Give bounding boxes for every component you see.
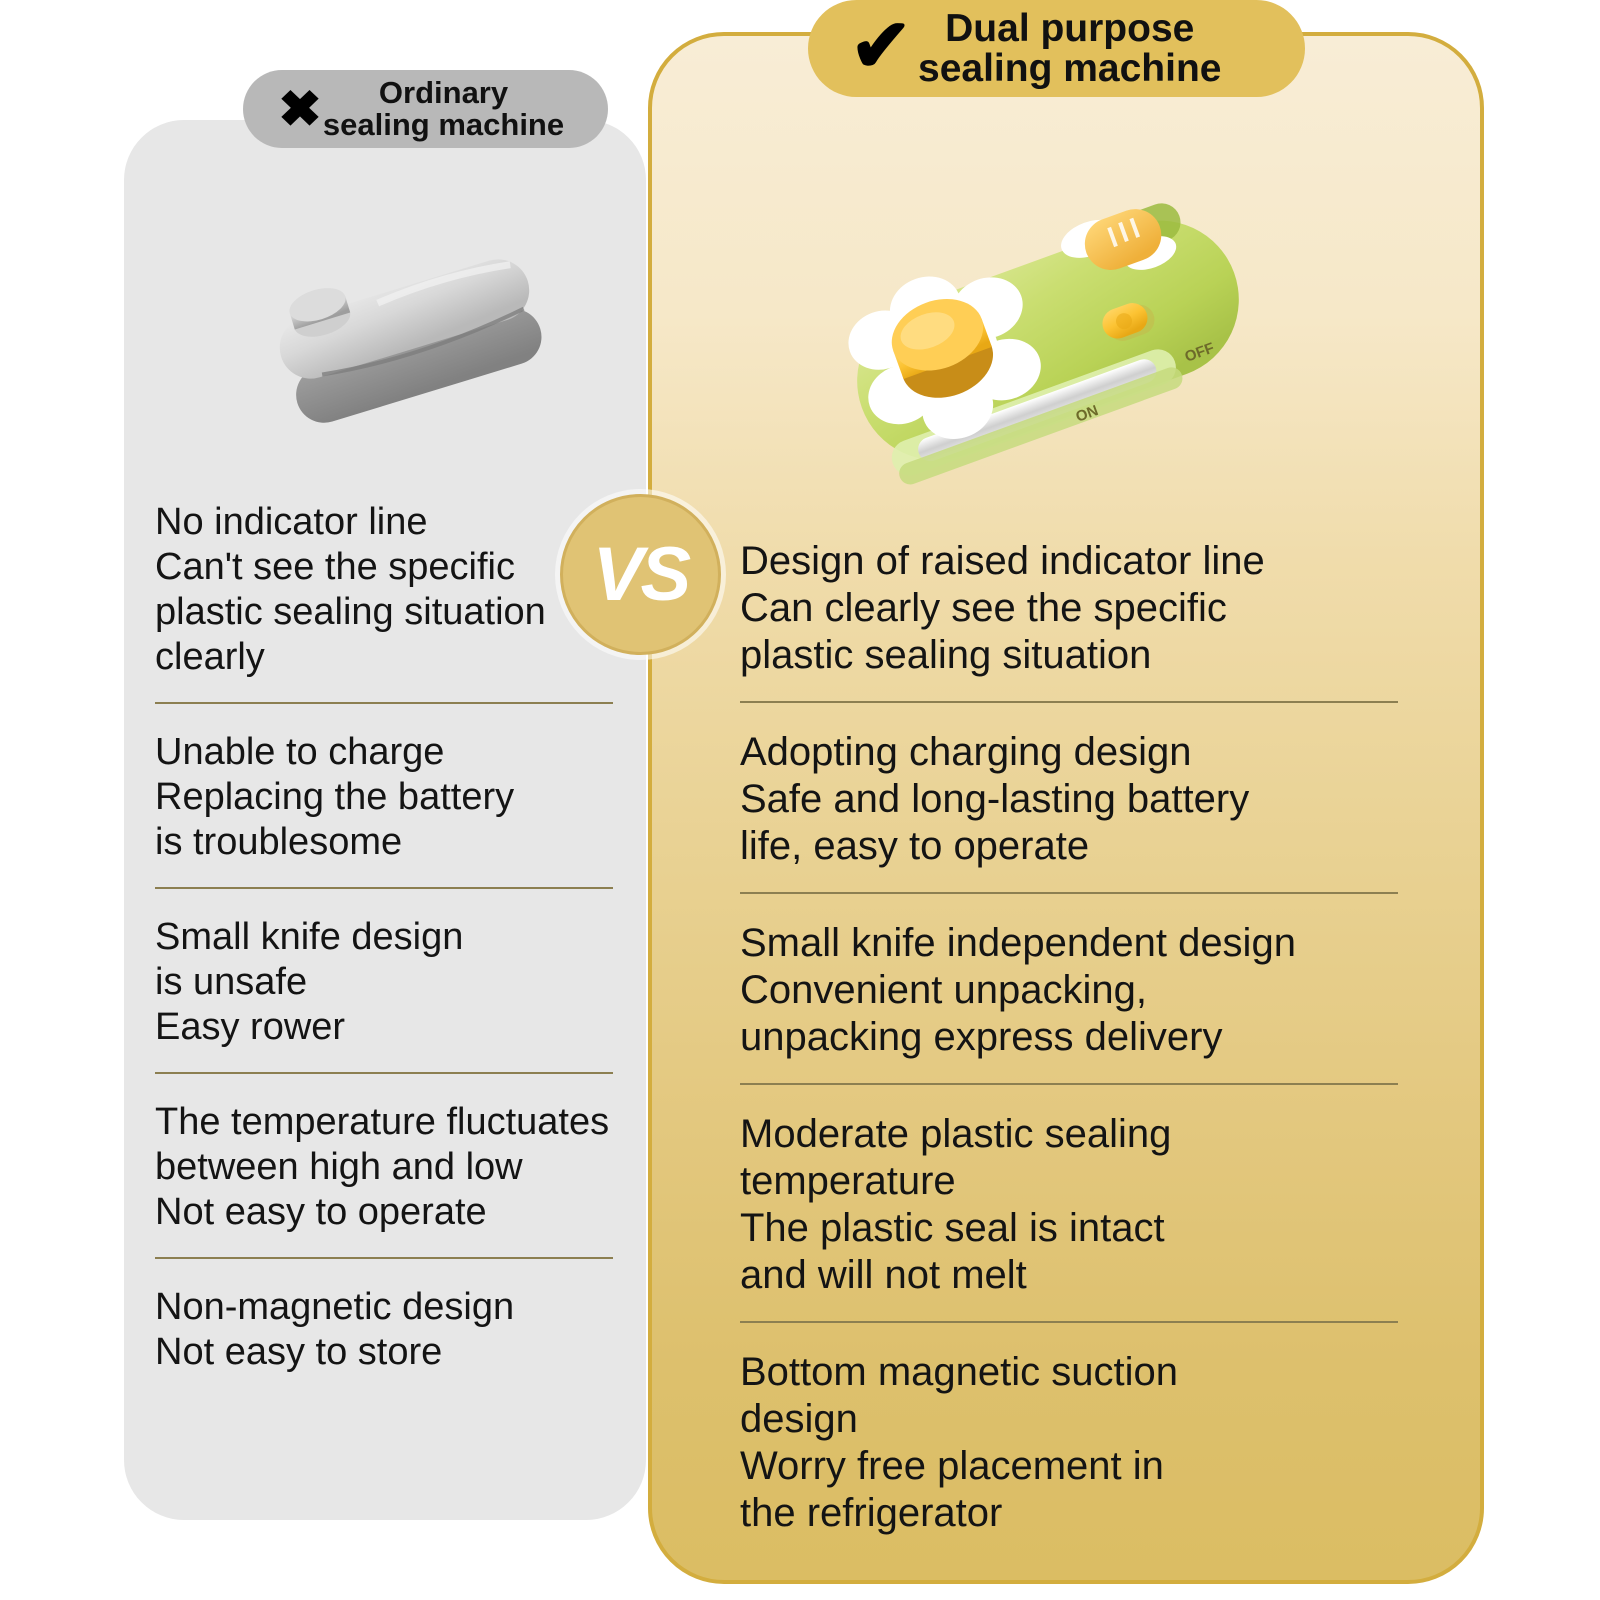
vs-label: VS xyxy=(593,531,688,618)
list-spacer xyxy=(155,1050,655,1072)
list-spacer xyxy=(740,1061,1420,1083)
feature-line: Small knife independent design xyxy=(740,920,1420,967)
feature-item: Unable to chargeReplacing the batteryis … xyxy=(155,730,655,865)
comparison-infographic: ON OFF ✖ Ordinary sealing machine ✔ Dual… xyxy=(0,0,1600,1600)
feature-line: Design of raised indicator line xyxy=(740,538,1420,585)
feature-item: Bottom magnetic suctiondesignWorry free … xyxy=(740,1349,1420,1537)
feature-line: temperature xyxy=(740,1158,1420,1205)
list-spacer xyxy=(740,1323,1420,1349)
list-spacer xyxy=(740,870,1420,892)
list-spacer xyxy=(740,1085,1420,1111)
feature-item: Design of raised indicator lineCan clear… xyxy=(740,538,1420,679)
feature-item: Small knife designis unsafeEasy rower xyxy=(155,915,655,1050)
ordinary-machine-badge: ✖ Ordinary sealing machine xyxy=(243,70,608,148)
badge-line-1: Ordinary xyxy=(379,77,508,109)
list-spacer xyxy=(740,894,1420,920)
list-spacer xyxy=(155,865,655,887)
vs-badge: VS xyxy=(560,494,721,655)
feature-line: Adopting charging design xyxy=(740,729,1420,776)
ordinary-feature-list: No indicator lineCan't see the specificp… xyxy=(155,500,655,1375)
feature-line: life, easy to operate xyxy=(740,823,1420,870)
feature-line: design xyxy=(740,1396,1420,1443)
feature-line: unpacking express delivery xyxy=(740,1014,1420,1061)
feature-line: clearly xyxy=(155,635,655,680)
feature-line: Replacing the battery xyxy=(155,775,655,820)
feature-line: Easy rower xyxy=(155,1005,655,1050)
feature-line: Not easy to store xyxy=(155,1330,655,1375)
feature-line: The temperature fluctuates xyxy=(155,1100,655,1145)
feature-item: Small knife independent designConvenient… xyxy=(740,920,1420,1061)
feature-line: The plastic seal is intact xyxy=(740,1205,1420,1252)
feature-line: Unable to charge xyxy=(155,730,655,775)
list-spacer xyxy=(155,680,655,702)
list-spacer xyxy=(155,1074,655,1100)
feature-line: between high and low xyxy=(155,1145,655,1190)
list-spacer xyxy=(740,703,1420,729)
feature-line: Safe and long-lasting battery xyxy=(740,776,1420,823)
list-spacer xyxy=(155,1259,655,1285)
feature-line: Moderate plastic sealing xyxy=(740,1111,1420,1158)
ordinary-machine-badge-text: Ordinary sealing machine xyxy=(323,77,564,140)
dual-purpose-sealing-machine-image: ON OFF xyxy=(790,150,1300,525)
feature-line: the refrigerator xyxy=(740,1490,1420,1537)
dual-purpose-machine-badge: ✔ Dual purpose sealing machine xyxy=(808,0,1305,97)
badge-line-2: sealing machine xyxy=(323,109,564,141)
list-spacer xyxy=(740,1299,1420,1321)
list-spacer xyxy=(155,1235,655,1257)
feature-line: and will not melt xyxy=(740,1252,1420,1299)
dual-purpose-feature-list: Design of raised indicator lineCan clear… xyxy=(740,538,1420,1537)
dual-purpose-machine-badge-text: Dual purpose sealing machine xyxy=(918,9,1221,89)
badge-line-2: sealing machine xyxy=(918,49,1221,89)
feature-line: Worry free placement in xyxy=(740,1443,1420,1490)
badge-line-1: Dual purpose xyxy=(945,9,1194,49)
feature-line: Convenient unpacking, xyxy=(740,967,1420,1014)
feature-item: Moderate plastic sealingtemperatureThe p… xyxy=(740,1111,1420,1299)
feature-line: Small knife design xyxy=(155,915,655,960)
feature-item: Non-magnetic designNot easy to store xyxy=(155,1285,655,1375)
feature-line: is troublesome xyxy=(155,820,655,865)
feature-item: The temperature fluctuatesbetween high a… xyxy=(155,1100,655,1235)
feature-line: Not easy to operate xyxy=(155,1190,655,1235)
list-spacer xyxy=(740,679,1420,701)
feature-line: Bottom magnetic suction xyxy=(740,1349,1420,1396)
list-spacer xyxy=(155,704,655,730)
feature-line: plastic sealing situation xyxy=(740,632,1420,679)
x-mark-icon: ✖ xyxy=(278,84,322,134)
feature-line: is unsafe xyxy=(155,960,655,1005)
feature-item: Adopting charging designSafe and long-la… xyxy=(740,729,1420,870)
list-spacer xyxy=(155,889,655,915)
feature-line: Can clearly see the specific xyxy=(740,585,1420,632)
check-mark-icon: ✔ xyxy=(850,9,912,83)
feature-line: Non-magnetic design xyxy=(155,1285,655,1330)
ordinary-sealing-machine-image xyxy=(262,235,562,460)
